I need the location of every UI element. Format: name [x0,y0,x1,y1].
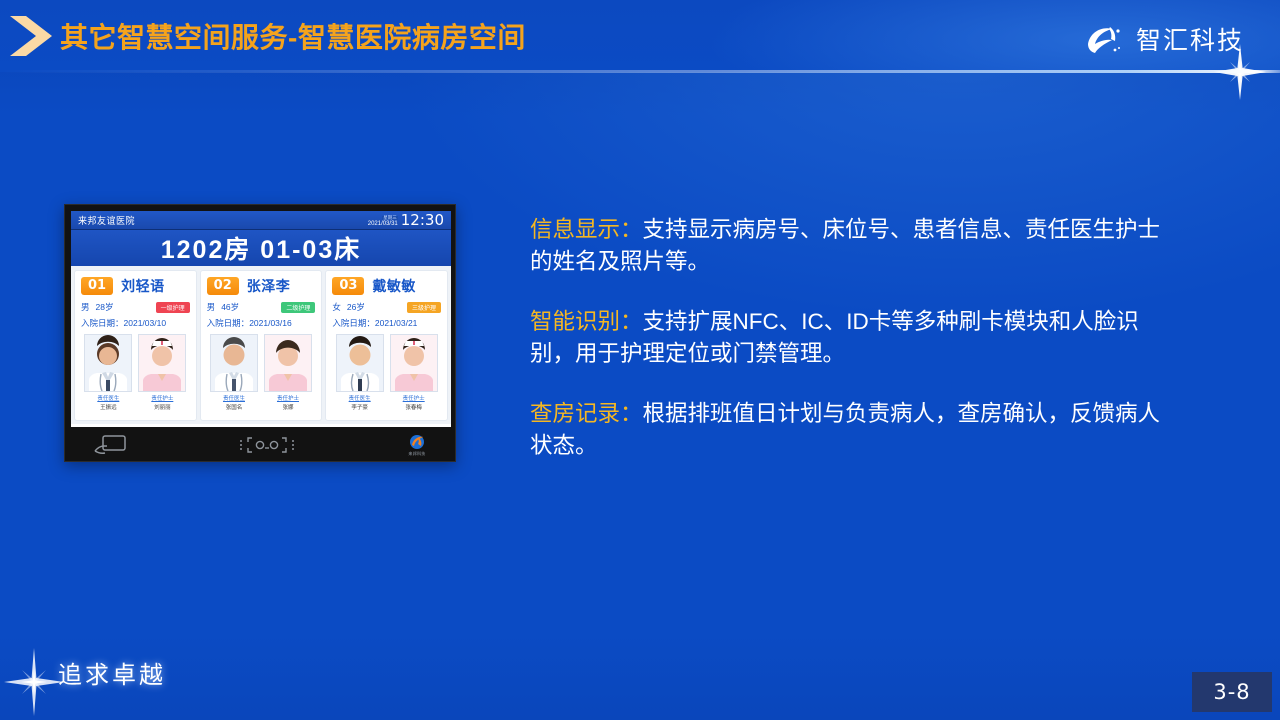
nurse-name: 张娜 [282,403,293,411]
brand-name: 智汇科技 [1136,21,1244,57]
clock-area: 星期三 2021/03/31 12:30 [368,213,444,227]
doctor-photo [84,334,132,392]
card-header: 02 张泽李 [207,276,316,296]
chevron-right-marker-icon [6,8,62,64]
doctor-block: 责任医生 李子豪 [336,334,384,411]
doctor-photo [210,334,258,392]
doctor-role-label: 责任医生 [223,394,245,402]
care-level-badge: 三级护理 [407,302,441,313]
patient-card[interactable]: 02 张泽李 男 46岁 二级护理 入院日期：2021/03/16 [200,270,323,421]
page-number-badge: 3-8 [1192,672,1272,712]
nurse-block: 责任护士 刘丽丽 [138,334,186,411]
card-demographics-row: 男 46岁 二级护理 [207,301,316,313]
care-level-badge: 一级护理 [156,302,190,313]
date-label: 2021/03/31 [368,221,398,227]
patient-card[interactable]: 03 戴敏敏 女 26岁 三级护理 入院日期：2021/03/21 [325,270,448,421]
card-header: 03 戴敏敏 [332,276,441,296]
feature-label: 智能识别： [530,309,643,334]
nurse-role-label: 责任护士 [277,394,299,402]
device-screen: 来邦友谊医院 星期三 2021/03/31 12:30 1202房 01-03床… [71,211,451,427]
feature-item: 信息显示：支持显示病房号、床位号、患者信息、责任医生护士的姓名及照片等。 [530,214,1170,278]
patient-age: 28岁 [96,301,114,313]
doctor-block: 责任医生 张国名 [210,334,258,411]
patient-name: 张泽李 [247,276,291,296]
page-title: 其它智慧空间服务-智慧医院病房空间 [60,16,526,56]
feature-list: 信息显示：支持显示病房号、床位号、患者信息、责任医生护士的姓名及照片等。 智能识… [530,214,1170,462]
patient-card[interactable]: 01 刘轻语 男 28岁 一级护理 入院日期：2021/03/10 [74,270,197,421]
admit-label: 入院日期： [81,318,124,328]
staff-row: 责任医生 王振远 [81,334,190,411]
admit-label: 入院日期： [332,318,375,328]
laibang-logo-icon [407,434,427,450]
device-bottom-bezel: 来邦科技 [71,427,449,463]
patient-gender: 男 [81,301,90,313]
room-banner: 1202房 01-03床 [71,230,451,266]
face-recognition-frame-icon[interactable] [236,435,298,455]
admit-date: 2021/03/16 [249,318,292,328]
ward-display-device: 来邦友谊医院 星期三 2021/03/31 12:30 1202房 01-03床… [64,204,456,462]
card-swipe-icon[interactable] [93,434,127,456]
nurse-name: 张春梅 [405,403,422,411]
patient-name: 刘轻语 [121,276,165,296]
room-bed-title: 1202房 01-03床 [161,230,362,266]
nurse-block: 责任护士 张春梅 [390,334,438,411]
card-header: 01 刘轻语 [81,276,190,296]
admit-date-row: 入院日期：2021/03/10 [81,317,190,329]
card-demographics-row: 男 28岁 一级护理 [81,301,190,313]
care-level-badge: 二级护理 [281,302,315,313]
admit-label: 入院日期： [207,318,250,328]
staff-row: 责任医生 张国名 [207,334,316,411]
device-brand-logo: 来邦科技 [407,434,427,457]
patient-age: 46岁 [221,301,239,313]
patient-name: 戴敏敏 [372,276,416,296]
admit-date: 2021/03/10 [124,318,167,328]
nurse-name: 刘丽丽 [154,403,171,411]
slide-background: 其它智慧空间服务-智慧医院病房空间 智汇科技 来邦友谊医院 [0,0,1280,720]
weekday-label: 星期三 [382,216,398,221]
patient-gender: 女 [332,301,341,313]
bed-number-badge: 03 [332,277,364,295]
footer-slogan: 追求卓越 [58,655,166,690]
card-demographics-row: 女 26岁 三级护理 [332,301,441,313]
doctor-name: 李子豪 [351,403,368,411]
device-brand-text: 来邦科技 [408,451,425,457]
zhihui-logo-icon [1082,20,1128,58]
patient-gender: 男 [207,301,216,313]
staff-row: 责任医生 李子豪 [332,334,441,411]
nurse-role-label: 责任护士 [403,394,425,402]
feature-label: 信息显示： [530,217,643,242]
doctor-role-label: 责任医生 [97,394,119,402]
admit-date-row: 入院日期：2021/03/16 [207,317,316,329]
patient-age: 26岁 [347,301,365,313]
feature-item: 智能识别：支持扩展NFC、IC、ID卡等多种刷卡模块和人脸识别，用于护理定位或门… [530,306,1170,370]
date-column: 星期三 2021/03/31 [368,216,398,228]
doctor-photo [336,334,384,392]
brand-logo: 智汇科技 [1082,20,1244,58]
nurse-role-label: 责任护士 [151,394,173,402]
time-label: 12:30 [401,213,444,227]
screen-topbar: 来邦友谊医院 星期三 2021/03/31 12:30 [71,211,451,230]
doctor-name: 王振远 [100,403,117,411]
doctor-block: 责任医生 王振远 [84,334,132,411]
admit-date-row: 入院日期：2021/03/21 [332,317,441,329]
bed-number-badge: 02 [207,277,239,295]
admit-date: 2021/03/21 [375,318,418,328]
doctor-role-label: 责任医生 [349,394,371,402]
slide-header: 其它智慧空间服务-智慧医院病房空间 智汇科技 [0,0,1280,72]
nurse-photo [390,334,438,392]
doctor-name: 张国名 [226,403,243,411]
nurse-block: 责任护士 张娜 [264,334,312,411]
feature-item: 查房记录：根据排班值日计划与负责病人，查房确认，反馈病人状态。 [530,398,1170,462]
header-divider [0,70,1280,73]
patient-card-list: 01 刘轻语 男 28岁 一级护理 入院日期：2021/03/10 [71,266,451,424]
nurse-photo [264,334,312,392]
feature-label: 查房记录： [530,401,643,426]
nurse-photo [138,334,186,392]
bed-number-badge: 01 [81,277,113,295]
hospital-name: 来邦友谊医院 [78,213,135,227]
